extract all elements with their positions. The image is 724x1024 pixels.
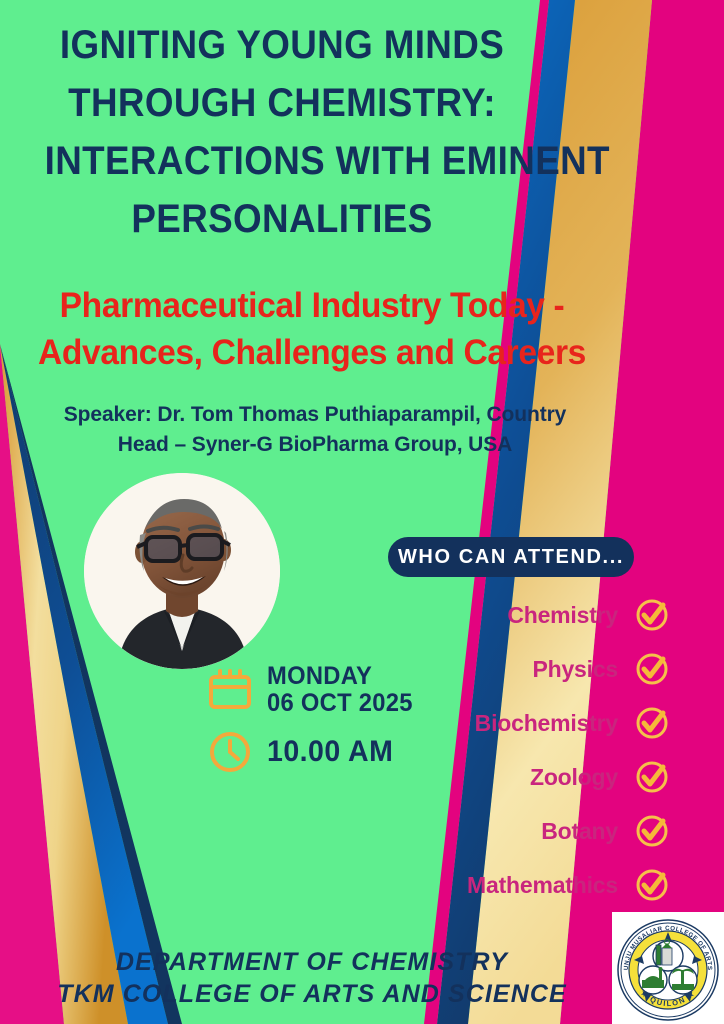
list-item: Physics xyxy=(360,642,670,696)
attendee-department-list: Chemistry Physics Biochemistry Zoology xyxy=(360,588,670,912)
attendee-label: Chemistry xyxy=(507,602,618,629)
title-line-4: PERSONALITIES xyxy=(45,190,520,248)
event-poster: IGNITING YOUNG MINDS THROUGH CHEMISTRY: … xyxy=(0,0,724,1024)
who-can-attend-label: WHO CAN ATTEND... xyxy=(398,546,624,569)
attendee-label: Mathemathics xyxy=(467,872,618,899)
footer-line-2: TKM COLLEGE OF ARTS AND SCIENCE xyxy=(12,978,612,1010)
list-item: Biochemistry xyxy=(360,696,670,750)
list-item: Mathemathics xyxy=(360,858,670,912)
title-line-1: IGNITING YOUNG MINDS xyxy=(45,16,520,74)
list-item: Botany xyxy=(360,804,670,858)
attendee-label: Biochemistry xyxy=(475,710,618,737)
speaker-line-1: Speaker: Dr. Tom Thomas Puthiaparampil, … xyxy=(20,400,610,430)
tkm-college-seal-icon: THANGAL KUNJU MUSALIAR COLLEGE OF ARTS &… xyxy=(612,912,724,1024)
check-circle-icon xyxy=(634,597,670,633)
poster-footer: DEPARTMENT OF CHEMISTRY TKM COLLEGE OF A… xyxy=(12,946,612,1010)
speaker-photo xyxy=(84,473,280,669)
list-item: Chemistry xyxy=(360,588,670,642)
calendar-icon xyxy=(207,667,253,713)
title-line-2: THROUGH CHEMISTRY: xyxy=(45,74,520,132)
speaker-line-2: Head – Syner-G BioPharma Group, USA xyxy=(20,430,610,460)
attendee-label: Physics xyxy=(532,656,618,683)
footer-line-1: DEPARTMENT OF CHEMISTRY xyxy=(12,946,612,978)
subtitle-line-1: Pharmaceutical Industry Today - xyxy=(20,282,604,329)
check-circle-icon xyxy=(634,813,670,849)
check-circle-icon xyxy=(634,705,670,741)
who-can-attend-badge: WHO CAN ATTEND... xyxy=(388,537,634,577)
title-line-3: INTERACTIONS WITH EMINENT xyxy=(45,132,520,190)
clock-icon xyxy=(207,729,253,775)
speaker-details: Speaker: Dr. Tom Thomas Puthiaparampil, … xyxy=(20,400,610,460)
attendee-label: Zoology xyxy=(530,764,618,791)
poster-subtitle: Pharmaceutical Industry Today - Advances… xyxy=(8,282,616,376)
poster-title: IGNITING YOUNG MINDS THROUGH CHEMISTRY: … xyxy=(24,16,540,248)
check-circle-icon xyxy=(634,651,670,687)
check-circle-icon xyxy=(634,867,670,903)
attendee-label: Botany xyxy=(541,818,618,845)
check-circle-icon xyxy=(634,759,670,795)
list-item: Zoology xyxy=(360,750,670,804)
college-logo: THANGAL KUNJU MUSALIAR COLLEGE OF ARTS &… xyxy=(612,912,724,1024)
subtitle-line-2: Advances, Challenges and Careers xyxy=(20,329,604,376)
speaker-portrait-illustration xyxy=(84,473,280,669)
